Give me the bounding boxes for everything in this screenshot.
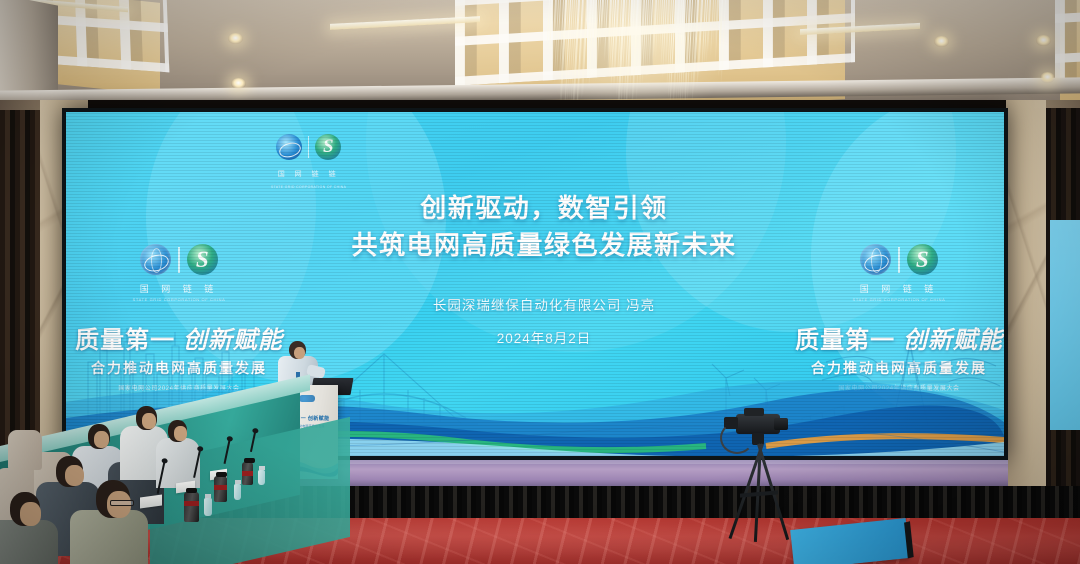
thermos-lid	[216, 472, 227, 477]
s-globe-icon	[907, 244, 938, 275]
side-led-panel-right	[1050, 220, 1080, 430]
downlight-1	[228, 33, 243, 44]
person-body	[70, 510, 148, 564]
camera-hood	[744, 408, 764, 416]
state-grid-globe-icon	[276, 134, 302, 160]
person-face	[94, 431, 109, 448]
state-grid-globe-icon	[860, 244, 891, 275]
downlight-2	[231, 78, 246, 89]
banner-left-logo-cn: 国 网 链 链	[74, 282, 284, 295]
speaker-face	[294, 347, 305, 359]
person-body	[0, 520, 58, 564]
water-bottle	[258, 470, 265, 485]
banner-right-logo-cn: 国 网 链 链	[794, 282, 1004, 295]
s-globe-icon	[315, 134, 341, 160]
conference-hall-photo: 国 网 链 链 STATE GRID CORPORATION OF CHINA …	[0, 0, 1080, 564]
banner-right-logo-en: STATE GRID CORPORATION OF CHINA	[794, 297, 1004, 302]
water-bottle	[234, 484, 241, 500]
thermos-band	[242, 471, 253, 476]
crystal-chandelier	[542, 0, 727, 112]
slide-title: 创新驱动，数智引领 共筑电网高质量绿色发展新未来	[294, 190, 794, 264]
banner-right-logos	[794, 244, 1004, 275]
slide-logo-en: STATE GRID CORPORATION OF CHINA	[271, 185, 346, 189]
slide-logo-cn: 国 网 链 链	[278, 169, 340, 179]
banner-left-logo-en: STATE GRID CORPORATION OF CHINA	[74, 297, 284, 302]
bottle-cap	[235, 480, 241, 484]
person-face	[174, 426, 187, 441]
downlight-5	[1036, 35, 1051, 46]
water-bottle	[204, 498, 212, 516]
camera-lens-icon	[774, 418, 788, 430]
thermos-lid	[244, 458, 255, 463]
person-face	[142, 413, 156, 429]
downlight-4	[1040, 72, 1055, 83]
podium-logo-icon	[299, 395, 315, 402]
downlight-3	[934, 36, 949, 47]
person-face	[65, 465, 84, 486]
slide-title-line-2: 共筑电网高质量绿色发展新未来	[294, 227, 794, 264]
eyeglasses	[110, 500, 134, 506]
ceiling	[0, 0, 1080, 112]
thermos-flask	[184, 492, 199, 522]
logo-divider	[308, 136, 309, 158]
s-globe-icon	[187, 244, 218, 275]
state-grid-globe-icon	[140, 244, 171, 275]
logo-divider	[178, 247, 180, 273]
logo-divider	[898, 247, 900, 273]
marble-column-right	[1006, 100, 1046, 520]
slide-top-logo: 国 网 链 链 STATE GRID CORPORATION OF CHINA	[271, 134, 346, 189]
thermos-flask	[242, 462, 253, 485]
thermos-flask	[214, 476, 227, 502]
person-face	[20, 502, 41, 526]
bottle-cap	[205, 494, 211, 498]
thermos-band	[184, 501, 199, 506]
bottle-cap	[259, 466, 265, 470]
banner-left-logos	[74, 244, 284, 275]
thermos-lid	[186, 488, 197, 493]
thermos-band	[214, 485, 227, 490]
chair	[8, 430, 42, 470]
camera-tripod	[716, 414, 812, 542]
camera-cable	[720, 422, 754, 454]
slide-title-line-1: 创新驱动，数智引领	[294, 190, 794, 227]
